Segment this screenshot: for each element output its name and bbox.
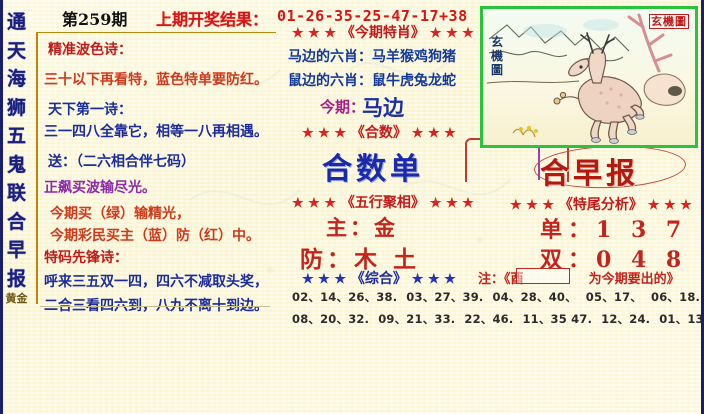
footnote-suffix: 为今期要出的》 [589,272,680,287]
star-icon: ★ ★ ★ [430,196,474,211]
left-panel-divider [40,306,270,307]
star-icon: ★ ★ ★ [412,272,456,287]
xuanji-side-char: 圖 [490,63,504,77]
star-icon: ★ ★ ★ [510,198,554,213]
wuxing-title: 《五行聚相》 [341,195,425,211]
tezhao-section-header: ★ ★ ★ 《今期特肖》 ★ ★ ★ [292,22,474,42]
masthead-char: 通 [3,8,30,37]
previous-result-label: 上期开奖结果： [156,6,268,30]
poem-title-tianxia: 天下第一诗： [48,99,132,119]
table-row: 02、14、26、38.03、27、39.04、28、40、05、17、06、1… [292,286,692,308]
star-icon: ★ ★ ★ [302,126,346,141]
tewei-title: 《特尾分析》 [559,197,643,213]
poem-title-xianfeng: 特码先锋诗： [44,247,128,267]
xuanji-seal: 玄機圖 [649,13,689,29]
tezhao-current-label: 今期： [320,96,365,117]
wuxing-section-header: ★ ★ ★ 《五行聚相》 ★ ★ ★ [292,192,474,212]
wuxing-main-value: 主：金 [326,212,398,242]
poem-panel: 精准波色诗： 三十以下再看特，蓝色特单要防红。 天下第一诗： 三一四八全靠它，相… [36,32,276,304]
tewei-section-header: ★ ★ ★ 《特尾分析》 ★ ★ ★ [510,194,692,214]
tezhao-title: 《今期特肖》 [341,25,425,41]
number-group: 01、13、37、49 [659,308,704,330]
lianhe-zaobao-title: 合早报 [540,150,639,192]
number-group: 12、24. [601,308,650,330]
number-group: 22、46. [464,308,513,330]
poem-line-tianxia: 三一四八全靠它，相等一八再相遇。 [44,121,268,141]
xuanji-side-label: 玄機圖 [490,35,504,77]
issue-number: 第259期 [62,6,127,30]
tewei-odd-values: 单：1 3 7 [540,212,687,244]
xuanji-illustration-frame: 玄機圖 玄機圖 [480,6,698,148]
table-row: 08、20、32.09、21、33.22、46.11、35 47.12、24.0… [292,308,692,330]
number-group: 04、28、40、 [492,286,576,308]
poem-line-lv: 今期买（绿）输精光， [50,203,190,223]
masthead-char: 五 [3,122,30,151]
heshu-title: 《合数》 [351,125,407,141]
number-group: 08、20、32. [292,308,369,330]
number-group: 09、21、33. [378,308,455,330]
star-icon: ★ ★ ★ [302,272,346,287]
xuanji-side-char: 機 [490,49,504,63]
masthead-char: 早 [3,236,30,265]
number-group: 02、14、26、38. [292,286,397,308]
masthead-char: 联 [3,179,30,208]
newspaper-page: 通天海狮五鬼联合早报 黄金 第259期 上期开奖结果： 01-26-35-25-… [0,0,704,414]
number-table: 02、14、26、38.03、27、39.04、28、40、05、17、06、1… [292,286,692,330]
star-icon: ★ ★ ★ [412,126,456,141]
tezhao-horse-line: 马边的六肖：马羊猴鸡狗猪 [288,46,456,66]
number-group: 03、27、39. [406,286,483,308]
number-group: 05、17、 [586,286,642,308]
masthead-vertical-title: 通天海狮五鬼联合早报 黄金 [0,0,30,414]
masthead-char: 海 [3,65,30,94]
masthead-subtitle: 黄金 [3,293,30,305]
masthead-char: 鬼 [3,151,30,180]
masthead-char: 报 [3,265,30,294]
poem-gift-line: 送：（二六相合伴七码） [48,151,195,171]
star-icon: ★ ★ ★ [292,26,336,41]
xuanji-side-char: 玄 [490,35,504,49]
tezhao-rat-line: 鼠边的六肖：鼠牛虎兔龙蛇 [288,70,456,90]
masthead-char: 合 [3,208,30,237]
star-icon: ★ ★ ★ [292,196,336,211]
poem-line-bose: 三十以下再看特，蓝色特单要防红。 [44,69,268,89]
xuanji-seal-text: 玄機圖 [649,14,689,29]
zonghe-title: 《综合》 [351,271,407,287]
footnote: 注：《酉 为今期要出的》 [478,268,680,287]
masthead-char: 天 [3,37,30,66]
number-group: 06、18. [651,286,700,308]
poem-title-bose: 精准波色诗： [48,39,132,59]
poem-line-zhengbiao: 正飙买波输尽光。 [44,177,156,197]
star-icon: ★ ★ ★ [648,198,692,213]
masthead-title-text: 通天海狮五鬼联合早报 [3,0,30,293]
poem-line-lan-fang: 今期彩民买主（蓝）防（红）中。 [50,225,260,245]
footnote-blank-box [516,268,570,284]
xuanji-illustration [483,9,695,145]
poem-line-xianfeng-1: 呼来三五双一四，四六不减取头奖， [44,271,268,291]
tezhao-current-value: 马边 [362,92,404,122]
poem-line-xianfeng-2: 二合三看四六到，八九不离十到边。 [44,295,268,315]
heshu-section-header: ★ ★ ★ 《合数》 ★ ★ ★ [302,122,456,142]
heshudan-headline: 合数单 [322,144,424,188]
star-icon: ★ ★ ★ [430,26,474,41]
masthead-char: 狮 [3,94,30,123]
zonghe-section-header: ★ ★ ★ 《综合》 ★ ★ ★ [302,268,456,288]
number-group: 11、35 47. [522,308,592,330]
